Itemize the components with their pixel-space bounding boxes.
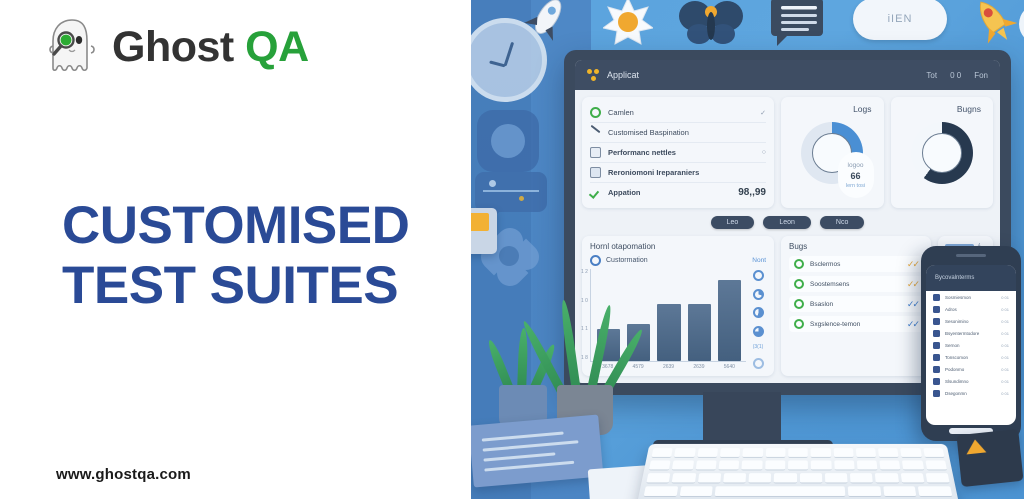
square-icon xyxy=(933,342,940,349)
phone-header-title: Bycovalnterms xyxy=(935,275,974,281)
headline-line-1: CUSTOMISED xyxy=(62,196,462,256)
checklist-label: Performanc nettles xyxy=(608,148,755,157)
dots-logo-icon xyxy=(587,69,600,82)
phone-notch xyxy=(956,254,986,257)
nav-item-2[interactable]: Fon xyxy=(974,71,988,80)
bar-chart-subtitle: Custormation xyxy=(606,257,747,264)
list-icon xyxy=(590,167,601,178)
mini-gauge-label: logoo xyxy=(848,162,864,169)
square-icon xyxy=(933,318,940,325)
phone-mockup: Bycovalnterms Sosmiesmon0 01 Adros0 01 S… xyxy=(921,246,1021,441)
checklist-label: Reroniomoni Ireparaniers xyxy=(608,168,766,177)
checklist-label: Camlen xyxy=(608,108,753,117)
brand-name-accent: QA xyxy=(245,23,309,71)
butterfly-icon xyxy=(677,0,745,46)
chart-icon-label: (3(1) xyxy=(753,344,764,350)
square-icon xyxy=(933,294,940,301)
calculator-display xyxy=(965,438,986,454)
bug-label: Sxgslence-temon xyxy=(810,321,901,328)
circle-decor-icon xyxy=(1019,4,1024,44)
checklist-row[interactable]: Camlen ✓ xyxy=(590,103,766,123)
circle-icon-2[interactable] xyxy=(753,358,764,369)
circle-check-icon xyxy=(794,319,804,329)
pill-button[interactable]: iIEN xyxy=(853,0,947,40)
phone-item-value: 0 01 xyxy=(1001,343,1009,348)
x-tick: 2639 xyxy=(657,364,680,370)
pie-icon[interactable] xyxy=(753,289,764,300)
left-content-panel: Ghost QA CUSTOMISED TEST SUITES www.ghos… xyxy=(0,0,471,499)
chart-bar xyxy=(718,280,741,361)
app-header-bar: Applicat Tot 0 0 Fon xyxy=(575,60,1000,90)
phone-item-label: Sosmiesmon xyxy=(945,295,996,300)
square-icon xyxy=(933,390,940,397)
phone-list-item[interactable]: Dsegonmn0 01 xyxy=(926,387,1016,399)
phone-list-item[interactable]: Slsundimno0 01 xyxy=(926,375,1016,387)
bug-row[interactable]: Bsaslon ✓✓ xyxy=(789,296,923,312)
rocket-icon xyxy=(515,0,577,44)
bar-chart-link[interactable]: Nont xyxy=(752,257,766,264)
bug-label: Bsclermos xyxy=(810,261,901,268)
document-bubble-icon xyxy=(767,0,827,48)
bugs-list-title: Bugs xyxy=(789,242,923,251)
phone-list-item[interactable]: Tonscomon0 01 xyxy=(926,351,1016,363)
website-url: www.ghostqa.com xyxy=(56,466,191,483)
card-reader-device xyxy=(471,208,497,254)
promotional-banner: Ghost QA CUSTOMISED TEST SUITES www.ghos… xyxy=(0,0,1024,499)
phone-item-label: Tonscomon xyxy=(945,355,996,360)
phone-item-label: Bsyentermtodore xyxy=(945,331,996,336)
phone-item-value: 0 01 xyxy=(1001,355,1009,360)
square-icon xyxy=(933,378,940,385)
brand-wordmark: Ghost QA xyxy=(112,26,309,69)
bug-row[interactable]: Bsclermos ✓✓ xyxy=(789,256,923,272)
bug-badge: ✓✓ xyxy=(907,280,918,289)
gear-icon xyxy=(477,110,539,172)
illustration-panel: iIEN xyxy=(471,0,1024,499)
app-nav[interactable]: Tot 0 0 Fon xyxy=(926,71,988,80)
app-brand[interactable]: Applicat xyxy=(587,69,639,82)
phone-list-item[interactable]: Adros0 01 xyxy=(926,303,1016,315)
circle-check-icon xyxy=(794,259,804,269)
chart-icon-column: (3(1) xyxy=(750,269,766,370)
ghost-magnifier-icon xyxy=(44,16,100,78)
phone-list-item[interactable]: Sosmiesmon0 01 xyxy=(926,291,1016,303)
circle-check-icon xyxy=(590,107,601,118)
bar-chart-title: Hornl otapomation xyxy=(590,242,766,251)
pencil-icon xyxy=(590,127,601,138)
action-button-1[interactable]: Leo xyxy=(711,216,755,229)
x-tick: 5640 xyxy=(718,364,741,370)
bugs-card-title: Bugns xyxy=(957,104,981,114)
pie-icon-3[interactable] xyxy=(753,326,764,337)
phone-list-item[interactable]: Podonmo0 01 xyxy=(926,363,1016,375)
phone-item-value: 0 01 xyxy=(1001,391,1009,396)
checklist-value: 98,,99 xyxy=(738,187,766,198)
x-tick: 4579 xyxy=(626,364,649,370)
bug-badge: ✓✓ xyxy=(907,300,918,309)
brand-logo: Ghost QA xyxy=(44,16,309,78)
logs-card: Logs logoo 66 lern tosi xyxy=(781,97,884,208)
nav-badge-count: 0 0 xyxy=(950,71,961,80)
notebook xyxy=(471,414,603,487)
phone-item-value: 0 01 xyxy=(1001,295,1009,300)
nav-item-1[interactable]: Tot xyxy=(926,71,937,80)
x-tick: 2639 xyxy=(687,364,710,370)
logs-card-title: Logs xyxy=(853,104,871,114)
mini-gauge-sub: lern tosi xyxy=(846,183,865,189)
phone-item-value: 0 01 xyxy=(1001,367,1009,372)
bug-badge: ✓✓ xyxy=(907,320,918,329)
checklist-row[interactable]: Reroniomoni Ireparaniers xyxy=(590,163,766,183)
phone-item-label: Slsundimno xyxy=(945,379,996,384)
phone-item-label: Dsegonmn xyxy=(945,391,996,396)
bugs-donut-chart xyxy=(911,122,973,184)
bug-label: Bsaslon xyxy=(810,301,901,308)
checklist-row[interactable]: Appation 98,,99 xyxy=(590,183,766,202)
square-icon xyxy=(933,366,940,373)
phone-item-label: Adros xyxy=(945,307,996,312)
phone-item-value: 0 01 xyxy=(1001,331,1009,336)
bug-label: Soostemsens xyxy=(810,281,901,288)
logs-mini-gauge: logoo 66 lern tosi xyxy=(838,152,874,198)
bug-badge: ✓✓ xyxy=(907,260,918,269)
calculator xyxy=(956,429,1023,487)
phone-item-label: Sesonimino xyxy=(945,319,996,324)
checklist-end: ✓ xyxy=(760,109,766,117)
page-title: CUSTOMISED TEST SUITES xyxy=(62,196,462,317)
bugs-list-card: Bugs Bsclermos ✓✓ Soostemsens ✓✓ xyxy=(781,236,931,376)
bug-row[interactable]: Soostemsens ✓✓ xyxy=(789,276,923,292)
pie-icon-2[interactable] xyxy=(753,307,764,318)
y-tick: 1 2 xyxy=(581,269,588,275)
checklist-label: Appation xyxy=(608,188,731,197)
app-title: Applicat xyxy=(607,70,639,80)
circle-check-icon xyxy=(794,279,804,289)
action-button-row: Leo Leon Nco xyxy=(582,215,993,229)
action-button-3[interactable]: Nco xyxy=(820,216,864,229)
checklist-card: Camlen ✓ Customised Baspination Performa… xyxy=(582,97,774,208)
checklist-row[interactable]: Performanc nettles ○ xyxy=(590,143,766,163)
square-icon xyxy=(933,330,940,337)
chart-bar xyxy=(657,304,680,361)
phone-item-label: Sernon xyxy=(945,343,996,348)
bugs-gauge-card: Bugns xyxy=(891,97,994,208)
checklist-row[interactable]: Customised Baspination xyxy=(590,123,766,143)
phone-item-value: 0 01 xyxy=(1001,379,1009,384)
square-icon xyxy=(590,147,601,158)
checklist-end: ○ xyxy=(762,149,766,156)
circle-icon[interactable] xyxy=(753,270,764,281)
circle-check-icon xyxy=(794,299,804,309)
checklist-label: Customised Baspination xyxy=(608,128,766,137)
action-button-2[interactable]: Leon xyxy=(763,216,811,229)
square-icon xyxy=(933,306,940,313)
phone-header: Bycovalnterms xyxy=(926,265,1016,291)
bug-row[interactable]: Sxgslence-temon ✓✓ xyxy=(789,316,923,332)
chat-chart-icon xyxy=(475,172,547,212)
phone-list-item[interactable]: Sernon0 01 xyxy=(926,339,1016,351)
pill-button-label: iIEN xyxy=(888,13,913,25)
phone-item-value: 0 01 xyxy=(1001,319,1009,324)
check-icon xyxy=(590,187,601,198)
headline-line-2: TEST SUITES xyxy=(62,256,462,316)
phone-item-value: 0 01 xyxy=(1001,307,1009,312)
phone-list-item[interactable]: Sesonimino0 01 xyxy=(926,315,1016,327)
phone-screen: Bycovalnterms Sosmiesmon0 01 Adros0 01 S… xyxy=(926,265,1016,425)
mini-gauge-value: 66 xyxy=(850,171,860,181)
phone-list-item[interactable]: Bsyentermtodore0 01 xyxy=(926,327,1016,339)
phone-item-label: Podonmo xyxy=(945,367,996,372)
circle-icon xyxy=(590,255,601,266)
square-icon xyxy=(933,354,940,361)
chart-bar xyxy=(688,304,711,361)
star-burst-icon xyxy=(603,0,653,46)
keyboard xyxy=(636,444,960,499)
brand-name-primary: Ghost xyxy=(112,23,234,71)
rocket-icon-2 xyxy=(969,0,1019,46)
